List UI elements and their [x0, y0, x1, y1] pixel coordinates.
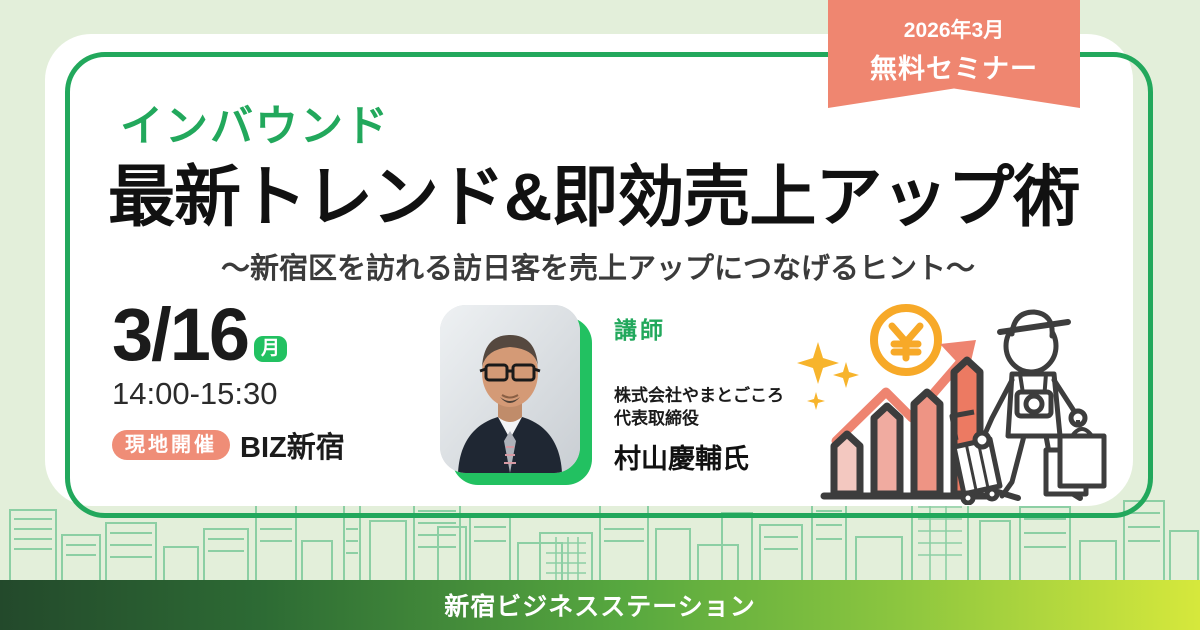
event-format-badge: 現地開催 — [112, 430, 230, 460]
ribbon-seminar-label: 無料セミナー — [870, 47, 1038, 86]
page-title: 最新トレンド&即効売上アップ術 — [108, 143, 1088, 240]
sparkle-icon — [797, 342, 859, 410]
speaker-photo — [440, 305, 580, 473]
speaker-info: 講師 株式会社やまとごころ 代表取締役 村山慶輔氏 — [614, 305, 784, 485]
speaker-name: 村山慶輔氏 — [614, 437, 784, 476]
event-time: 14:00-15:30 — [112, 376, 362, 412]
event-date-block: 3/16 月 14:00-15:30 現地開催 BIZ新宿 — [112, 300, 362, 466]
speaker-title: 代表取締役 — [614, 408, 784, 431]
inbound-growth-illustration — [788, 300, 1118, 505]
ribbon-date-label: 2026年3月 — [904, 14, 1004, 44]
event-date: 3/16 — [112, 300, 248, 370]
speaker-photo-wrap — [440, 305, 592, 485]
yen-coin-icon — [874, 308, 938, 372]
organization-name: 新宿ビジネスステーション — [444, 587, 756, 623]
event-venue: BIZ新宿 — [240, 424, 345, 466]
weekday-badge: 月 — [254, 336, 287, 362]
venue-row: 現地開催 BIZ新宿 — [112, 424, 362, 466]
footer-bar: 新宿ビジネスステーション — [0, 580, 1200, 630]
page-subtitle: 〜新宿区を訪れる訪日客を売上アップにつなげるヒント〜 — [108, 245, 1088, 287]
speaker-label: 講師 — [614, 311, 784, 345]
date-row: 3/16 月 — [112, 300, 362, 370]
speaker-block: 講師 株式会社やまとごころ 代表取締役 村山慶輔氏 — [440, 305, 784, 485]
speaker-company: 株式会社やまとごころ — [614, 385, 784, 408]
